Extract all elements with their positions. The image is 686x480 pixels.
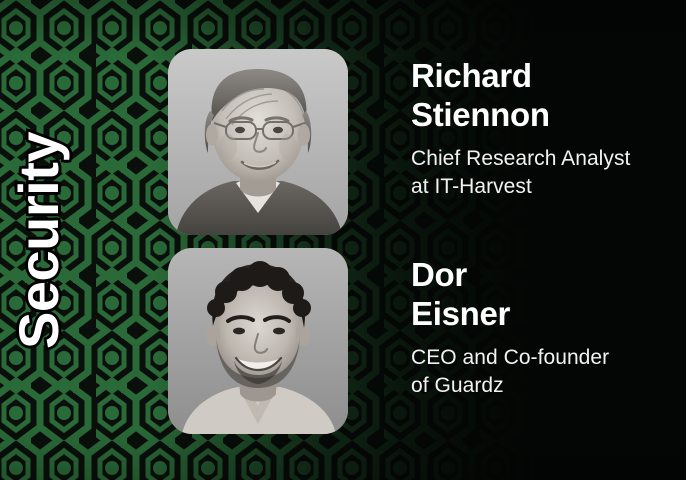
speaker-info-1: Richard Stiennon Chief Research Analyst … [411, 57, 683, 200]
speaker-promo-card: Security [0, 0, 686, 480]
speaker-info-2: Dor Eisner CEO and Co-founder of Guardz [411, 256, 683, 399]
speaker-name-1: Richard Stiennon [411, 57, 683, 135]
speaker-role-1: Chief Research Analyst at IT-Harvest [411, 145, 683, 200]
speaker-photo-2 [168, 248, 348, 434]
speaker-photo-1 [168, 49, 348, 235]
speaker-name-2: Dor Eisner [411, 256, 683, 334]
speaker-role-2: CEO and Co-founder of Guardz [411, 344, 683, 399]
